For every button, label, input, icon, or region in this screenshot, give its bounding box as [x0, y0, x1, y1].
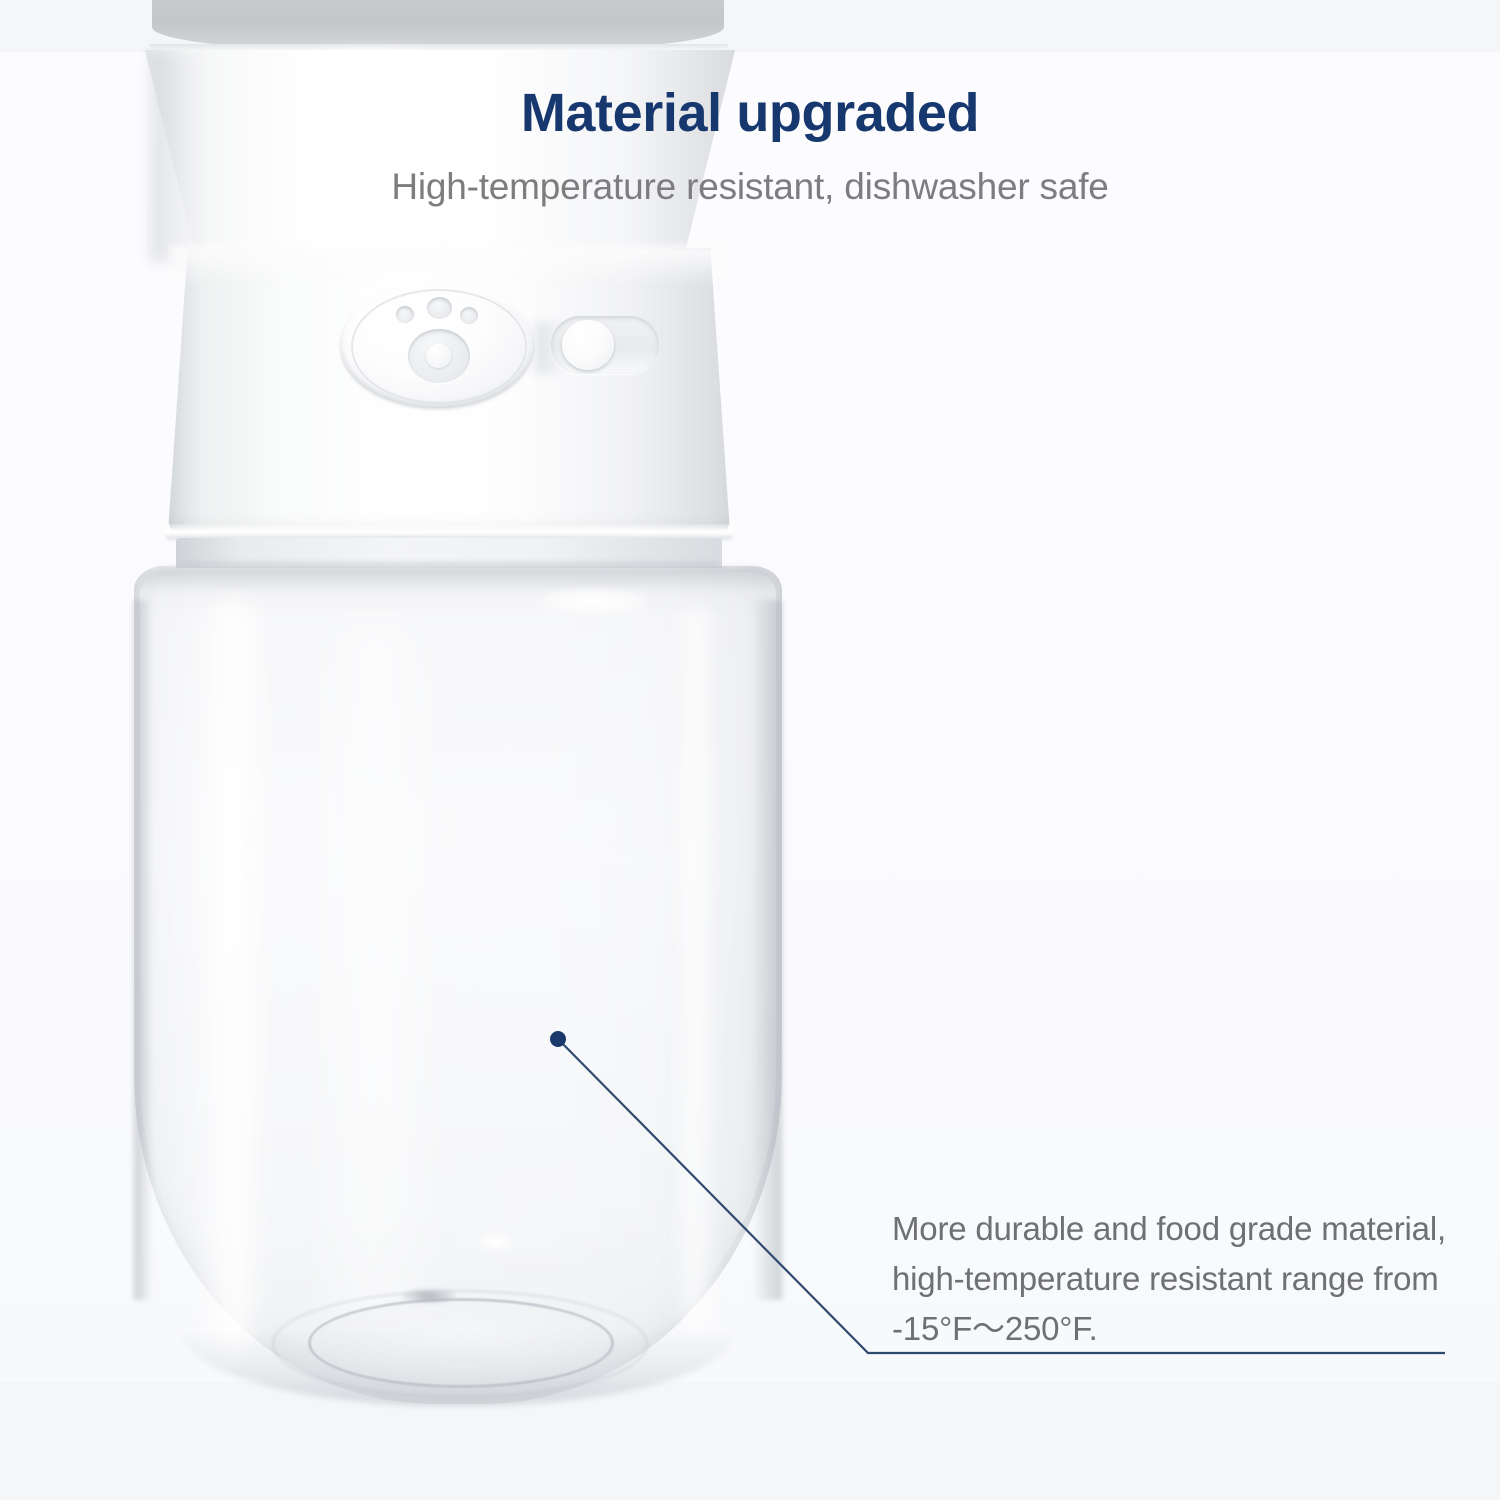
paw-toe-right-icon: [460, 307, 478, 324]
collar-top-highlight: [170, 246, 726, 286]
bottle-base-ring: [308, 1298, 614, 1388]
lock-slider-knob: [562, 320, 614, 370]
bottle-left-edge: [134, 600, 152, 1300]
callout-line-3: -15°F〜250°F.: [892, 1304, 1462, 1354]
bottle-soft-highlight: [300, 620, 450, 1320]
paw-toe-center-icon: [427, 297, 452, 319]
bottle-top-specular: [540, 588, 648, 614]
page-title: Material upgraded: [0, 82, 1500, 144]
product-feature-slide: Material upgraded High-temperature resis…: [0, 0, 1500, 1500]
paw-toe-left-icon: [396, 306, 414, 323]
page-subtitle: High-temperature resistant, dishwasher s…: [0, 166, 1500, 208]
bottle-right-highlight: [672, 610, 718, 1330]
product-photo-pet-water-bottle: [0, 0, 900, 1450]
bottle-base-nib: [402, 1289, 456, 1303]
callout-line-1: More durable and food grade material,: [892, 1204, 1462, 1254]
callout-line-2: high-temperature resistant range from: [892, 1254, 1462, 1304]
paw-main-pad-inner: [426, 344, 451, 368]
bottle-small-specular: [478, 1232, 514, 1252]
bottle-right-edge: [752, 600, 782, 1300]
callout-description: More durable and food grade material, hi…: [892, 1204, 1462, 1354]
bottle-left-highlight: [196, 600, 270, 1360]
